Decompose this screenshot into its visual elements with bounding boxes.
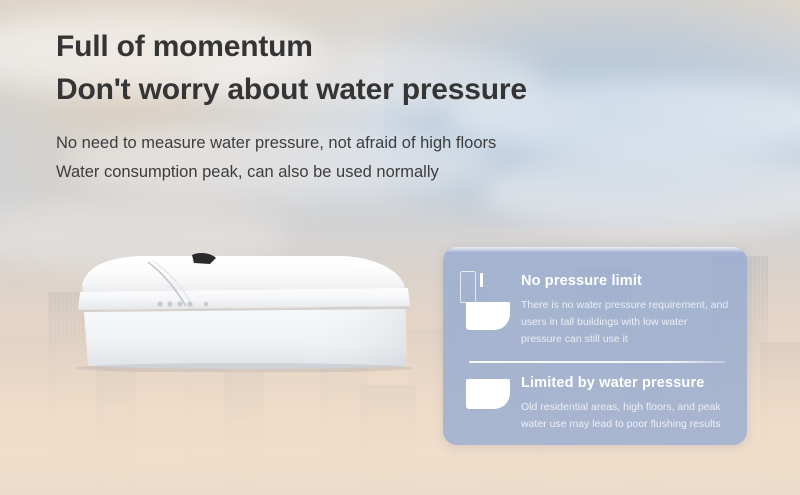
toilet-bowl-icon — [466, 379, 516, 413]
card-item-title: Limited by water pressure — [521, 375, 729, 392]
toilet-with-tank-icon — [460, 271, 512, 331]
card-section-divider — [469, 361, 725, 363]
text-column: No pressure limit There is no water pres… — [521, 261, 747, 359]
headline-line-1: Full of momentum — [56, 26, 676, 69]
headline-block: Full of momentum Don't worry about water… — [56, 26, 676, 186]
headline-line-2: Don't worry about water pressure — [56, 69, 676, 112]
card-item-body: There is no water pressure requirement, … — [521, 297, 729, 348]
subcopy-block: No need to measure water pressure, not a… — [56, 129, 676, 186]
bowl-shape — [466, 302, 510, 330]
subcopy-line-1: No need to measure water pressure, not a… — [56, 129, 676, 157]
card-item-limited-by-water-pressure: Limited by water pressure Old residentia… — [443, 369, 747, 443]
card-item-no-pressure-limit: No pressure limit There is no water pres… — [443, 261, 747, 359]
bowl-shape — [466, 379, 510, 409]
smart-toilet-illustration — [44, 232, 416, 372]
icon-column — [443, 261, 521, 359]
flush-lever — [480, 273, 483, 287]
info-card: No pressure limit There is no water pres… — [443, 247, 747, 445]
icon-column — [443, 369, 521, 443]
subcopy-line-2: Water consumption peak, can also be used… — [56, 158, 676, 186]
card-top-highlight — [443, 247, 747, 252]
tank-outline — [460, 271, 476, 303]
promo-banner: Full of momentum Don't worry about water… — [0, 0, 800, 495]
card-item-body: Old residential areas, high floors, and … — [521, 399, 729, 433]
card-item-title: No pressure limit — [521, 273, 729, 290]
product-image-smart-toilet — [44, 232, 416, 372]
text-column: Limited by water pressure Old residentia… — [521, 369, 747, 443]
